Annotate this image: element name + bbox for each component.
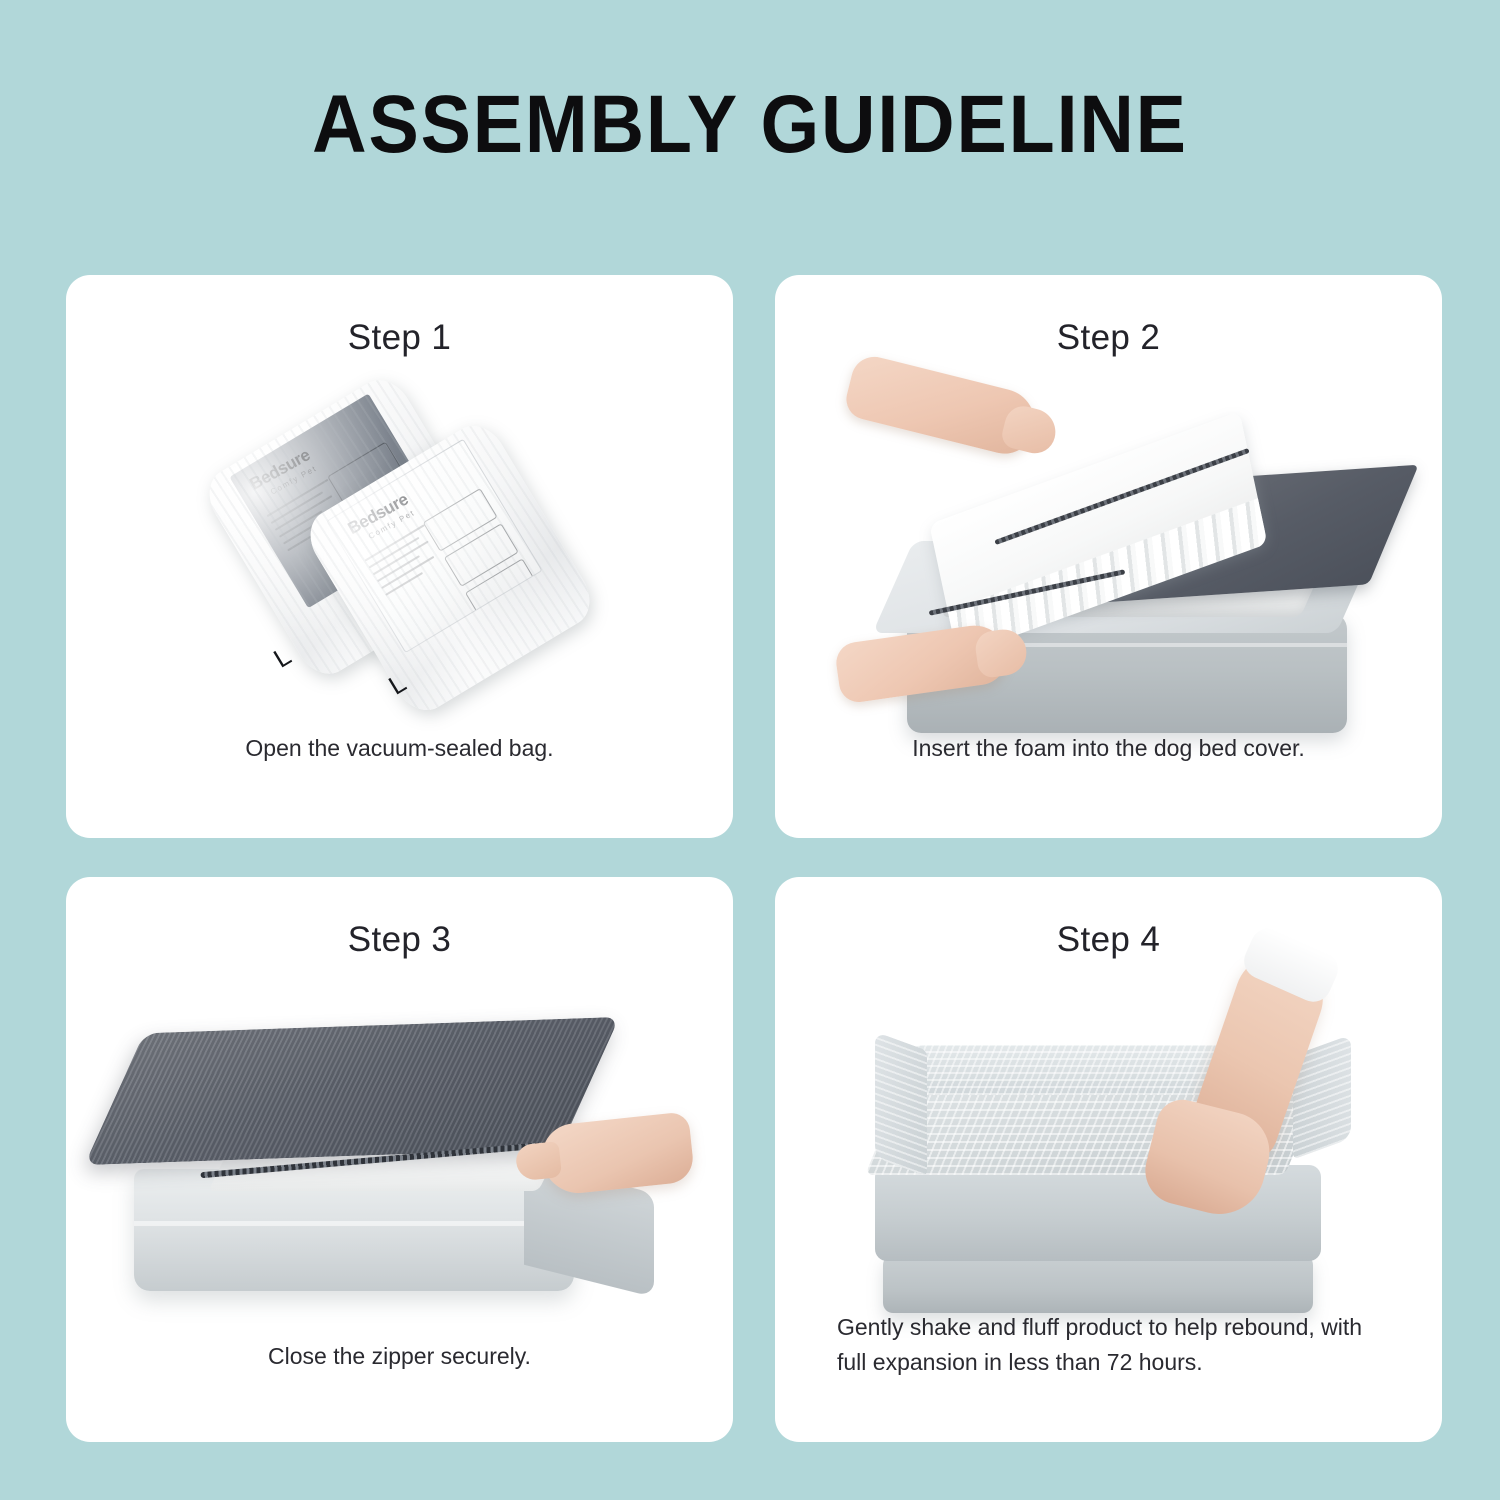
finished-bed-scene xyxy=(835,957,1395,1327)
step-1-illustration: Bedsure Comfy Pet xyxy=(66,393,733,723)
step-label-3: Step 3 xyxy=(66,920,733,960)
step-caption-1: Open the vacuum-sealed bag. xyxy=(116,731,683,766)
step-caption-4: Gently shake and fluff product to help r… xyxy=(837,1310,1394,1380)
steps-grid: Step 1 Bedsure Comfy Pet xyxy=(66,275,1434,1442)
zipper-closing-scene xyxy=(104,969,704,1309)
step-card-3: Step 3 Close the zipper securely. xyxy=(66,877,733,1442)
hand-upper xyxy=(842,352,1042,460)
step-label-1: Step 1 xyxy=(66,318,733,358)
size-mark: L xyxy=(269,642,295,672)
step-2-illustration xyxy=(775,370,1442,745)
step-caption-3: Close the zipper securely. xyxy=(116,1339,683,1374)
bolster-left xyxy=(875,1032,927,1177)
foam-insertion-scene xyxy=(837,370,1397,745)
page-title: ASSEMBLY GUIDELINE xyxy=(60,78,1440,172)
step-label-4: Step 4 xyxy=(775,920,1442,960)
step-4-illustration xyxy=(775,957,1442,1327)
step-card-4: Step 4 Gently shake and fluff product to… xyxy=(775,877,1442,1442)
step-label-2: Step 2 xyxy=(775,318,1442,358)
step-caption-2: Insert the foam into the dog bed cover. xyxy=(825,731,1392,766)
step-card-2: Step 2 Insert the foam into the dog bed … xyxy=(775,275,1442,838)
vacuum-sealed-bags: Bedsure Comfy Pet xyxy=(234,403,574,703)
bed-lower-base xyxy=(883,1255,1313,1313)
step-card-1: Step 1 Bedsure Comfy Pet xyxy=(66,275,733,838)
step-3-illustration xyxy=(66,969,733,1309)
